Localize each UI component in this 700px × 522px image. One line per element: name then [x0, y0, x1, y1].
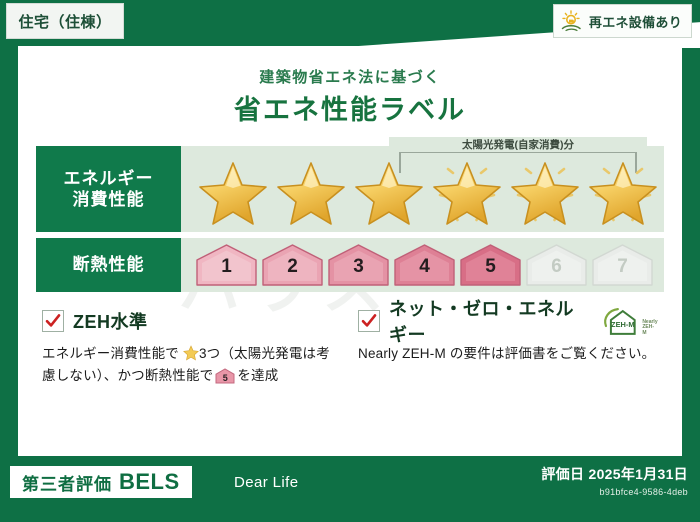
- zeh-m-logo-text: ZEH-M: [611, 320, 634, 329]
- bels-jp-label: 第三者評価: [22, 470, 112, 495]
- bels-certification-box: 第三者評価 BELS: [10, 466, 192, 498]
- footer: 第三者評価 BELS Dear Life 評価日 2025年1月31日 b91b…: [0, 456, 700, 522]
- renewable-equipment-badge: 再エネ設備あり: [553, 4, 692, 38]
- document-type-tag: 住宅（住棟）: [6, 3, 124, 39]
- insulation-grade-value: 7: [591, 256, 654, 278]
- energy-performance-body: 太陽光発電(自家消費)分: [181, 146, 664, 232]
- evaluation-date-line: 評価日 2025年1月31日: [541, 464, 688, 484]
- zeh-m-sub-line2: ZEH-M: [642, 324, 654, 336]
- sun-solar-icon: [560, 10, 584, 32]
- insulation-grade-1: 1: [195, 243, 258, 287]
- insulation-label-line1: 断熱性能: [73, 254, 145, 275]
- insulation-grade-value: 6: [525, 256, 588, 278]
- zeh-description-pre: エネルギー消費性能で: [42, 346, 179, 361]
- insulation-grade-5: 5: [459, 243, 522, 287]
- main-card: 建築物省エネ法に基づく 省エネ性能ラベル ハウス エネルギー 消費性能 太陽光発…: [18, 46, 682, 456]
- zeh-description: エネルギー消費性能で 3つ（太陽光発電は考慮しない）、かつ断熱性能で 5 を達成: [42, 343, 342, 387]
- energy-label-line2: 消費性能: [73, 189, 145, 210]
- criterion-zeh-standard: ZEH水準 エネルギー消費性能で 3つ（太陽光発電は考慮しない）、かつ断熱性能で…: [42, 308, 342, 387]
- star-rating: [181, 146, 664, 232]
- inline-grade-badge: 5: [215, 368, 235, 384]
- title-subtitle: 建築物省エネ法に基づく: [18, 66, 682, 87]
- net-zero-checkbox[interactable]: [358, 310, 380, 332]
- energy-label-line1: エネルギー: [64, 168, 154, 189]
- insulation-grade-scale: 1 2 3 4 5 6 7: [181, 238, 664, 292]
- top-bar: 住宅（住棟） 再エネ設備あり: [0, 0, 700, 46]
- star-4: [431, 153, 503, 225]
- insulation-grade-7: 7: [591, 243, 654, 287]
- insulation-grade-2: 2: [261, 243, 324, 287]
- insulation-grade-value: 5: [459, 256, 522, 278]
- insulation-grade-value: 3: [327, 256, 390, 278]
- insulation-grade-value: 1: [195, 256, 258, 278]
- insulation-performance-body: 1 2 3 4 5 6 7: [181, 238, 664, 292]
- star-1: [197, 153, 269, 225]
- net-zero-description: Nearly ZEH-M の要件は評価書をご覧ください。: [358, 343, 658, 365]
- criterion-net-zero-energy: ネット・ゼロ・エネルギー ZEH-M Nearly ZEH-M Nearly Z…: [358, 308, 658, 365]
- star-6: [587, 153, 659, 225]
- energy-label-root: 住宅（住棟） 再エネ設備あり: [0, 0, 700, 522]
- insulation-grade-3: 3: [327, 243, 390, 287]
- check-icon: [361, 313, 377, 329]
- zeh-m-logo-subtext: Nearly ZEH-M: [642, 320, 658, 337]
- zeh-m-logo: ZEH-M Nearly ZEH-M: [601, 306, 658, 336]
- bels-en-label: BELS: [119, 469, 180, 495]
- energy-performance-row: エネルギー 消費性能 太陽光発電(自家消費)分: [36, 146, 664, 232]
- brand-name: Dear Life: [234, 474, 298, 491]
- document-type-label: 住宅（住棟）: [18, 11, 111, 32]
- inline-grade-value: 5: [215, 371, 235, 386]
- evaluation-info: 評価日 2025年1月31日 b91bfce4-9586-4deb: [541, 464, 688, 497]
- net-zero-title: ネット・ゼロ・エネルギー: [389, 295, 588, 347]
- criterion-nze-header: ネット・ゼロ・エネルギー ZEH-M Nearly ZEH-M: [358, 308, 658, 334]
- zeh-description-post: を達成: [237, 368, 278, 383]
- star-2: [275, 153, 347, 225]
- zeh-m-house-icon: ZEH-M: [601, 306, 641, 336]
- evaluation-date-label: 評価日: [541, 466, 584, 482]
- evaluation-date-value: 2025年1月31日: [588, 466, 688, 482]
- criterion-zeh-header: ZEH水準: [42, 308, 342, 334]
- inline-star-icon: [183, 345, 199, 361]
- page-title: 省エネ性能ラベル: [18, 88, 682, 127]
- star-5: [509, 153, 581, 225]
- evaluation-id: b91bfce4-9586-4deb: [541, 487, 688, 497]
- zeh-title: ZEH水準: [73, 308, 148, 334]
- renewable-equipment-label: 再エネ設備あり: [589, 12, 682, 31]
- insulation-performance-label: 断熱性能: [36, 238, 181, 292]
- zeh-checkbox[interactable]: [42, 310, 64, 332]
- insulation-performance-row: 断熱性能 1 2 3 4 5: [36, 238, 664, 292]
- energy-performance-label: エネルギー 消費性能: [36, 146, 181, 232]
- insulation-grade-value: 2: [261, 256, 324, 278]
- star-3: [353, 153, 425, 225]
- check-icon: [45, 313, 61, 329]
- insulation-grade-4: 4: [393, 243, 456, 287]
- insulation-grade-6: 6: [525, 243, 588, 287]
- insulation-grade-value: 4: [393, 256, 456, 278]
